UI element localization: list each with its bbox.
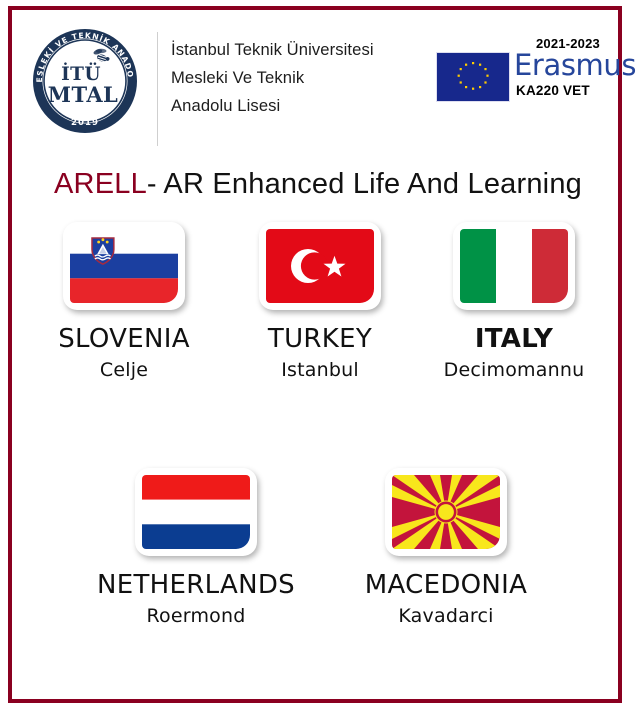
city-name: Istanbul [222, 359, 418, 381]
svg-text:MTAL: MTAL [48, 82, 118, 107]
flag-card-netherlands [135, 468, 257, 556]
country-name: ITALY [414, 326, 614, 353]
partner-slovenia: SLOVENIA Celje [26, 222, 222, 381]
turkey-flag-icon [266, 229, 374, 303]
partner-netherlands: NETHERLANDS Roermond [96, 468, 296, 627]
city-name: Kavadarci [346, 605, 546, 627]
partner-row-1: SLOVENIA Celje TURKEY Istanbul [0, 222, 636, 437]
svg-text:2019: 2019 [71, 118, 99, 128]
european-union-flag-icon [436, 52, 510, 102]
project-title-rest: - AR Enhanced Life And Learning [147, 168, 582, 200]
country-name: TURKEY [222, 326, 418, 353]
country-name: SLOVENIA [26, 326, 222, 353]
erasmus-action-label: KA220 VET [516, 83, 590, 98]
project-title: ARELL- AR Enhanced Life And Learning [0, 168, 636, 201]
partner-macedonia: MACEDONIA Kavadarci [346, 468, 546, 627]
netherlands-flag-icon [142, 475, 250, 549]
school-name-line-1: İstanbul Teknik Üniversitesi [171, 36, 436, 64]
school-name: İstanbul Teknik Üniversitesi Mesleki Ve … [171, 36, 436, 120]
city-name: Decimomannu [414, 359, 614, 381]
partner-italy: ITALY Decimomannu [414, 222, 614, 381]
country-name: MACEDONIA [346, 572, 546, 599]
flag-card-turkey [259, 222, 381, 310]
poster-canvas: MESLEKİ VE TEKNİK ANADOLU İYU · LİSESİ İ… [0, 0, 636, 718]
poster-header: MESLEKİ VE TEKNİK ANADOLU İYU · LİSESİ İ… [14, 14, 618, 142]
partner-row-2: NETHERLANDS Roermond [0, 468, 636, 683]
flag-card-macedonia [385, 468, 507, 556]
city-name: Roermond [96, 605, 296, 627]
itu-mtal-school-seal-icon: MESLEKİ VE TEKNİK ANADOLU İYU · LİSESİ İ… [26, 22, 144, 140]
city-name: Celje [26, 359, 222, 381]
macedonia-flag-icon [392, 475, 500, 549]
school-name-line-3: Anadolu Lisesi [171, 92, 436, 120]
slovenia-flag-icon [70, 229, 178, 303]
partner-turkey: TURKEY Istanbul [222, 222, 418, 381]
erasmus-logo-block: 2021-2023 [434, 36, 614, 106]
flag-card-slovenia [63, 222, 185, 310]
country-name: NETHERLANDS [96, 572, 296, 599]
flag-card-italy [453, 222, 575, 310]
school-name-line-2: Mesleki Ve Teknik [171, 64, 436, 92]
project-acronym: ARELL [54, 168, 147, 200]
header-divider [157, 32, 158, 146]
italy-flag-icon [460, 229, 568, 303]
erasmus-wordmark: Erasmus+ [514, 48, 636, 82]
